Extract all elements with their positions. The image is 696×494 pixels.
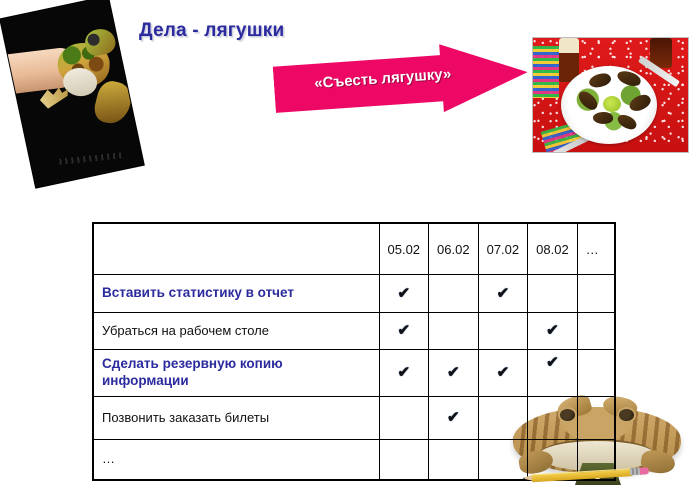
checkmark-cell-r0-c3[interactable] [528, 275, 578, 313]
header-cell-date-3: 08.02 [528, 223, 578, 275]
header-cell-date-2: 07.02 [478, 223, 528, 275]
checkmark-icon: ✔ [447, 365, 460, 380]
checkmark-icon: ✔ [497, 365, 510, 380]
header-cell-task [93, 223, 379, 275]
page-title: Дела - лягушки [139, 20, 284, 42]
task-label: Позвонить заказать билеты [93, 397, 379, 440]
checkmark-cell-r0-c4[interactable] [577, 275, 615, 313]
header-cell-date-4: … [577, 223, 615, 275]
checkmark-icon: ✔ [497, 285, 510, 300]
checkmark-cell-r3-c3[interactable] [528, 397, 578, 440]
todo-table: 05.0206.0207.0208.02…Вставить статистику… [92, 222, 616, 481]
frog-legs-dish-photo [533, 38, 688, 152]
task-label: Сделать резервную копию информации [93, 350, 379, 397]
frog-leg-shape [92, 78, 135, 127]
checkmark-icon: ✔ [447, 410, 460, 425]
task-label: Вставить статистику в отчет [93, 275, 379, 313]
checkmark-icon: ✔ [397, 365, 410, 380]
checkmark-icon: ✔ [546, 355, 559, 370]
checkmark-cell-r2-c3[interactable]: ✔ [528, 350, 578, 397]
checkmark-cell-r0-c1[interactable] [429, 275, 479, 313]
checkmark-cell-r3-c0[interactable] [379, 397, 429, 440]
checkmark-cell-r3-c4[interactable] [577, 397, 615, 440]
checkmark-cell-r3-c2[interactable] [478, 397, 528, 440]
table-header-row: 05.0206.0207.0208.02… [93, 223, 615, 275]
checkmark-icon: ✔ [397, 323, 410, 338]
striped-fabric-shape [533, 46, 559, 98]
checkmark-cell-r1-c0[interactable]: ✔ [379, 313, 429, 350]
checkmark-cell-r2-c1[interactable]: ✔ [429, 350, 479, 397]
table-row: Сделать резервную копию информации✔✔✔✔ [93, 350, 615, 397]
checkmark-icon: ✔ [397, 285, 410, 300]
checkmark-cell-r1-c1[interactable] [429, 313, 479, 350]
frog-eye-right [619, 409, 634, 421]
checkmark-icon: ✔ [546, 323, 559, 338]
arrow-callout: «Съесть лягушку» [272, 38, 530, 124]
header-cell-date-1: 06.02 [429, 223, 479, 275]
table-row: Вставить статистику в отчет✔✔ [93, 275, 615, 313]
table-row: Убраться на рабочем столе✔✔ [93, 313, 615, 350]
pencil-eraser [640, 467, 649, 475]
task-label: Убраться на рабочем столе [93, 313, 379, 350]
task-label: … [93, 440, 379, 480]
checkmark-cell-r1-c3[interactable]: ✔ [528, 313, 578, 350]
checkmark-cell-r1-c4[interactable] [577, 313, 615, 350]
header-cell-date-0: 05.02 [379, 223, 429, 275]
checkmark-cell-r0-c0[interactable]: ✔ [379, 275, 429, 313]
checkmark-cell-r4-c0[interactable] [379, 440, 429, 480]
checkmark-cell-r2-c2[interactable]: ✔ [478, 350, 528, 397]
checkmark-cell-r2-c4[interactable] [577, 350, 615, 397]
photo-watermark [59, 152, 121, 164]
checkmark-cell-r0-c2[interactable]: ✔ [478, 275, 528, 313]
checkmark-cell-r2-c0[interactable]: ✔ [379, 350, 429, 397]
checkmark-cell-r4-c1[interactable] [429, 440, 479, 480]
checkmark-cell-r1-c2[interactable] [478, 313, 528, 350]
frog-in-hand-photo [0, 0, 143, 188]
slide-canvas: Дела - лягушки «Съесть лягушку» [0, 0, 696, 494]
lime-shape [603, 96, 621, 112]
table-row: Позвонить заказать билеты✔ [93, 397, 615, 440]
checkmark-cell-r3-c1[interactable]: ✔ [429, 397, 479, 440]
checkmark-cell-r4-c2[interactable] [478, 440, 528, 480]
